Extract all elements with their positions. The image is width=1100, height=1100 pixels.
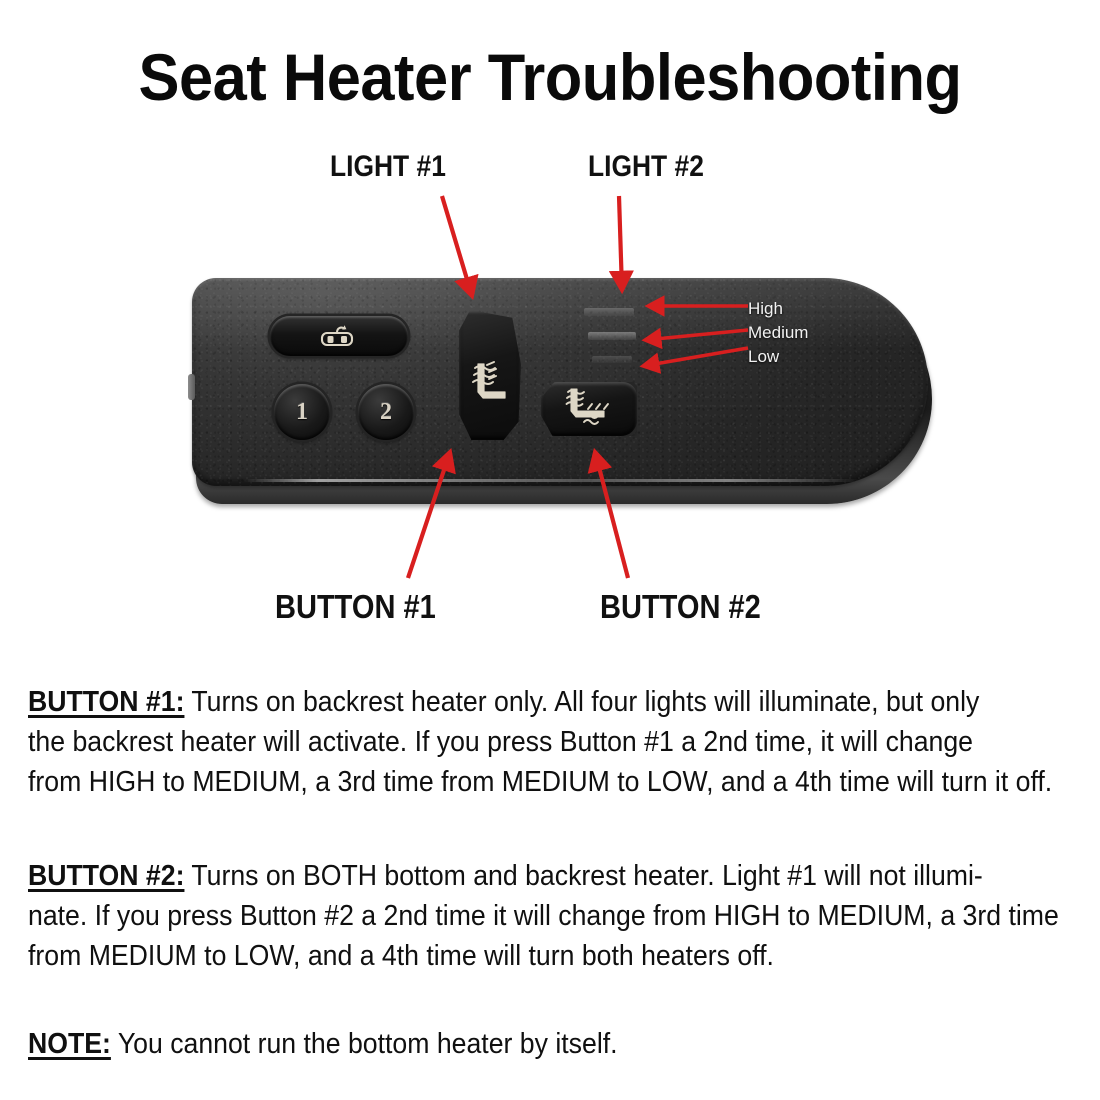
paragraph-line: from HIGH to MEDIUM, a 3rd time from MED… — [28, 762, 1006, 802]
paragraph-line: nate. If you press Button #2 a 2nd time … — [28, 896, 1006, 936]
callout-label-button-2: BUTTON #2 — [600, 588, 761, 626]
arrow-light-2 — [619, 196, 622, 290]
panel-face: 1 2 — [192, 278, 928, 486]
button-2-both-heaters[interactable] — [541, 382, 637, 436]
paragraph-line: BUTTON #2: Turns on BOTH bottom and back… — [28, 856, 1006, 896]
button-1-backrest-heater[interactable] — [459, 310, 521, 440]
seat-memory-button[interactable] — [270, 316, 408, 356]
level-label-high: High — [748, 299, 783, 319]
seat-heater-control-panel: 1 2 — [192, 278, 937, 508]
seat-memory-icon — [317, 323, 361, 349]
level-label-low: Low — [748, 347, 779, 367]
callout-label-button-1: BUTTON #1 — [275, 588, 436, 626]
backrest-heater-icon — [467, 336, 513, 415]
paragraph-line: BUTTON #1: Turns on backrest heater only… — [28, 682, 1006, 722]
paragraph-button-2: BUTTON #2: Turns on BOTH bottom and back… — [28, 856, 1006, 976]
paragraph-line: from MEDIUM to LOW, and a 4th time will … — [28, 936, 1006, 976]
paragraph-text: Turns on BOTH bottom and backrest heater… — [184, 860, 982, 892]
indicator-bar-low — [592, 356, 632, 363]
paragraph-note: NOTE: You cannot run the bottom heater b… — [28, 1024, 1006, 1064]
preset-button-2[interactable]: 2 — [358, 384, 414, 440]
paragraph-lead: BUTTON #1: — [28, 686, 184, 718]
level-label-medium: Medium — [748, 323, 808, 343]
paragraph-text: You cannot run the bottom heater by itse… — [111, 1028, 618, 1060]
panel-left-tab — [188, 374, 195, 400]
paragraph-lead: BUTTON #2: — [28, 860, 184, 892]
preset-button-2-label: 2 — [380, 399, 392, 426]
preset-button-1-label: 1 — [296, 399, 308, 426]
panel-bottom-seam — [244, 479, 864, 482]
callout-label-light-1: LIGHT #1 — [330, 150, 446, 184]
callout-label-light-2: LIGHT #2 — [588, 150, 704, 184]
infographic-page: Seat Heater Troubleshooting LIGHT #1 LIG… — [0, 0, 1100, 1100]
paragraph-line: the backrest heater will activate. If yo… — [28, 722, 1006, 762]
paragraph-lead: NOTE: — [28, 1028, 111, 1060]
preset-button-1[interactable]: 1 — [274, 384, 330, 440]
indicator-bar-medium — [588, 332, 636, 340]
paragraph-line: NOTE: You cannot run the bottom heater b… — [28, 1024, 1006, 1064]
paragraph-button-1: BUTTON #1: Turns on backrest heater only… — [28, 682, 1006, 802]
indicator-bar-high — [584, 308, 634, 316]
paragraph-text: Turns on backrest heater only. All four … — [184, 686, 979, 718]
page-title: Seat Heater Troubleshooting — [39, 44, 1062, 110]
seat-and-backrest-heater-icon — [558, 385, 620, 434]
